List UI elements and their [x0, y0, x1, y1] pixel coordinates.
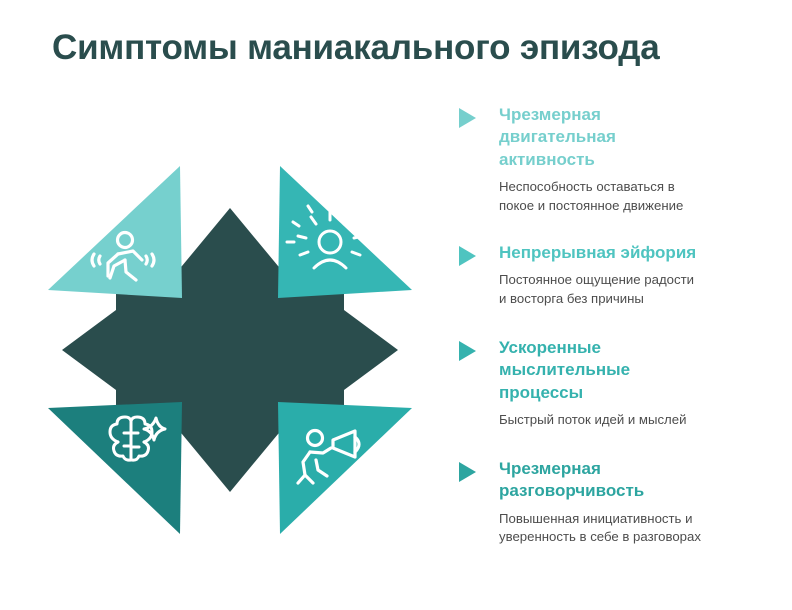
symptom-title: Непрерывная эйфория — [499, 242, 759, 264]
symptoms-list: Чрезмерная двигательная активность Неспо… — [459, 104, 759, 561]
bullet-triangle-icon — [459, 108, 476, 128]
triangle-top-right — [278, 166, 412, 298]
symptom-title: Ускоренные мыслительные процессы — [499, 337, 649, 404]
symptom-item-1: Чрезмерная двигательная активность Неспо… — [459, 104, 759, 216]
symptom-item-4: Чрезмерная разговорчивость Повышенная ин… — [459, 458, 759, 547]
bullet-triangle-icon — [459, 462, 476, 482]
symptom-item-2: Непрерывная эйфория Постоянное ощущение … — [459, 242, 759, 309]
symptom-title: Чрезмерная разговорчивость — [499, 458, 679, 503]
bullet-triangle-icon — [459, 341, 476, 361]
symptom-description: Повышенная инициативность и уверенность … — [499, 510, 759, 547]
triangle-bottom-left — [48, 402, 182, 534]
infographic-root: Симптомы маниакального эпизода — [0, 0, 792, 610]
symptom-description: Быстрый поток идей и мыслей — [499, 411, 759, 430]
symptom-description: Неспособность оставаться в покое и посто… — [499, 178, 759, 215]
graphic-svg — [30, 150, 430, 550]
symptom-title: Чрезмерная двигательная активность — [499, 104, 649, 171]
bullet-triangle-icon — [459, 246, 476, 266]
symptoms-graphic — [30, 150, 430, 550]
triangle-bottom-right — [278, 402, 412, 534]
page-title: Симптомы маниакального эпизода — [52, 28, 660, 68]
triangle-top-left — [48, 166, 182, 298]
symptom-description: Постоянное ощущение радости и восторга б… — [499, 271, 759, 308]
symptom-item-3: Ускоренные мыслительные процессы Быстрый… — [459, 337, 759, 430]
